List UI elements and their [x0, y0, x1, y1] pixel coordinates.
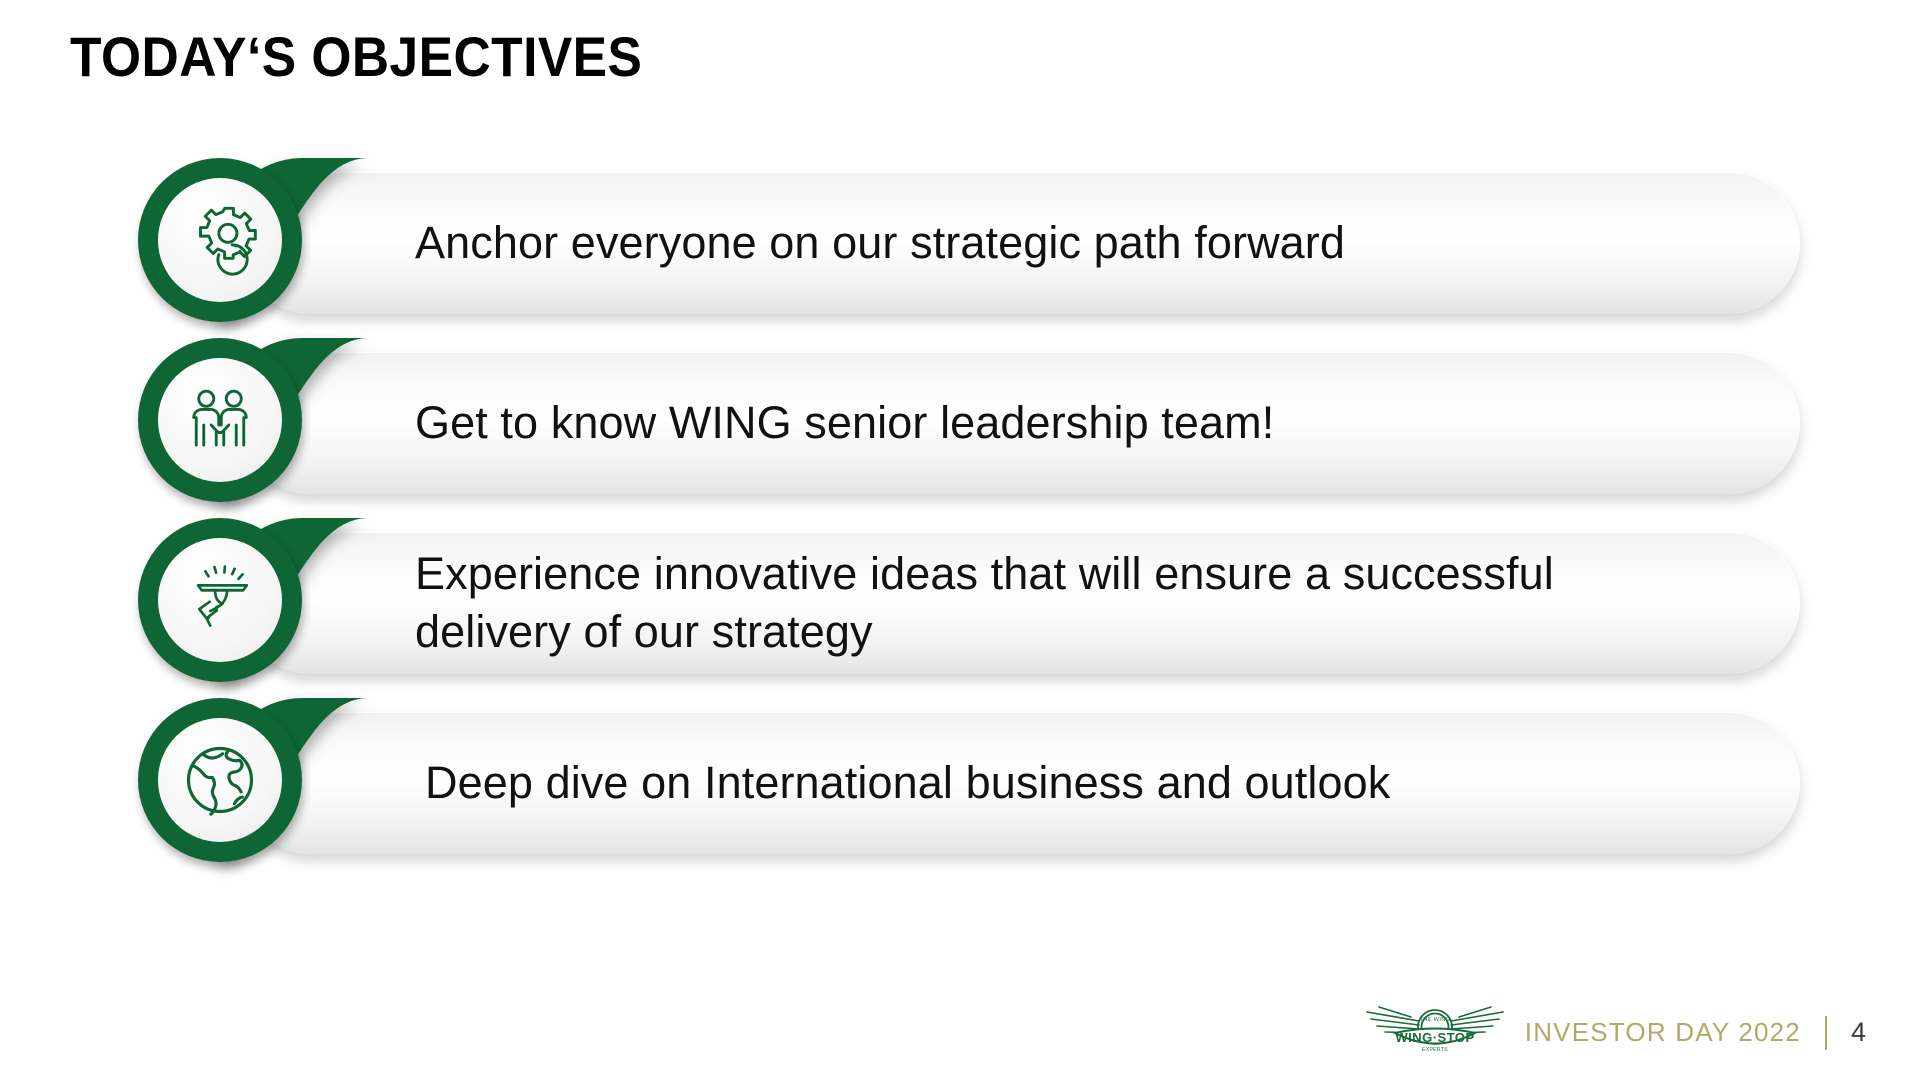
objective-text: Experience innovative ideas that will en… — [415, 532, 1710, 674]
page-number: 4 — [1851, 1017, 1866, 1048]
objective-pill[interactable]: Experience innovative ideas that will en… — [240, 532, 1800, 674]
svg-text:EXPERTS: EXPERTS — [1422, 1047, 1448, 1053]
list-item[interactable]: Deep dive on International business and … — [0, 690, 1920, 870]
objective-text: Get to know WING senior leadership team! — [415, 352, 1710, 494]
list-item[interactable]: Get to know WING senior leadership team! — [0, 330, 1920, 510]
objective-badge — [138, 338, 302, 502]
objective-pill[interactable]: Get to know WING senior leadership team! — [240, 352, 1800, 494]
page-title: TODAY‘S OBJECTIVES — [70, 24, 642, 89]
objective-pill[interactable]: Deep dive on International business and … — [240, 712, 1800, 854]
serving-tray-hand-icon — [158, 538, 282, 662]
wingstop-logo: WING·STOP THE WING EXPERTS — [1361, 999, 1509, 1066]
objective-badge — [138, 698, 302, 862]
handshake-people-icon — [158, 358, 282, 482]
globe-icon — [158, 718, 282, 842]
footer-divider — [1825, 1016, 1827, 1050]
slide-footer: WING·STOP THE WING EXPERTS INVESTOR DAY … — [1361, 999, 1866, 1066]
objective-pill[interactable]: Anchor everyone on our strategic path fo… — [240, 172, 1800, 314]
list-item[interactable]: Anchor everyone on our strategic path fo… — [0, 150, 1920, 330]
objective-text: Anchor everyone on our strategic path fo… — [415, 172, 1710, 314]
list-item[interactable]: Experience innovative ideas that will en… — [0, 510, 1920, 690]
gear-icon — [158, 178, 282, 302]
svg-text:WING·STOP: WING·STOP — [1395, 1030, 1474, 1045]
svg-text:THE WING: THE WING — [1419, 1017, 1450, 1023]
footer-event-label: INVESTOR DAY 2022 — [1525, 1017, 1801, 1048]
objectives-list: Anchor everyone on our strategic path fo… — [0, 150, 1920, 870]
objective-badge — [138, 158, 302, 322]
objective-text: Deep dive on International business and … — [425, 712, 1710, 854]
objective-badge — [138, 518, 302, 682]
